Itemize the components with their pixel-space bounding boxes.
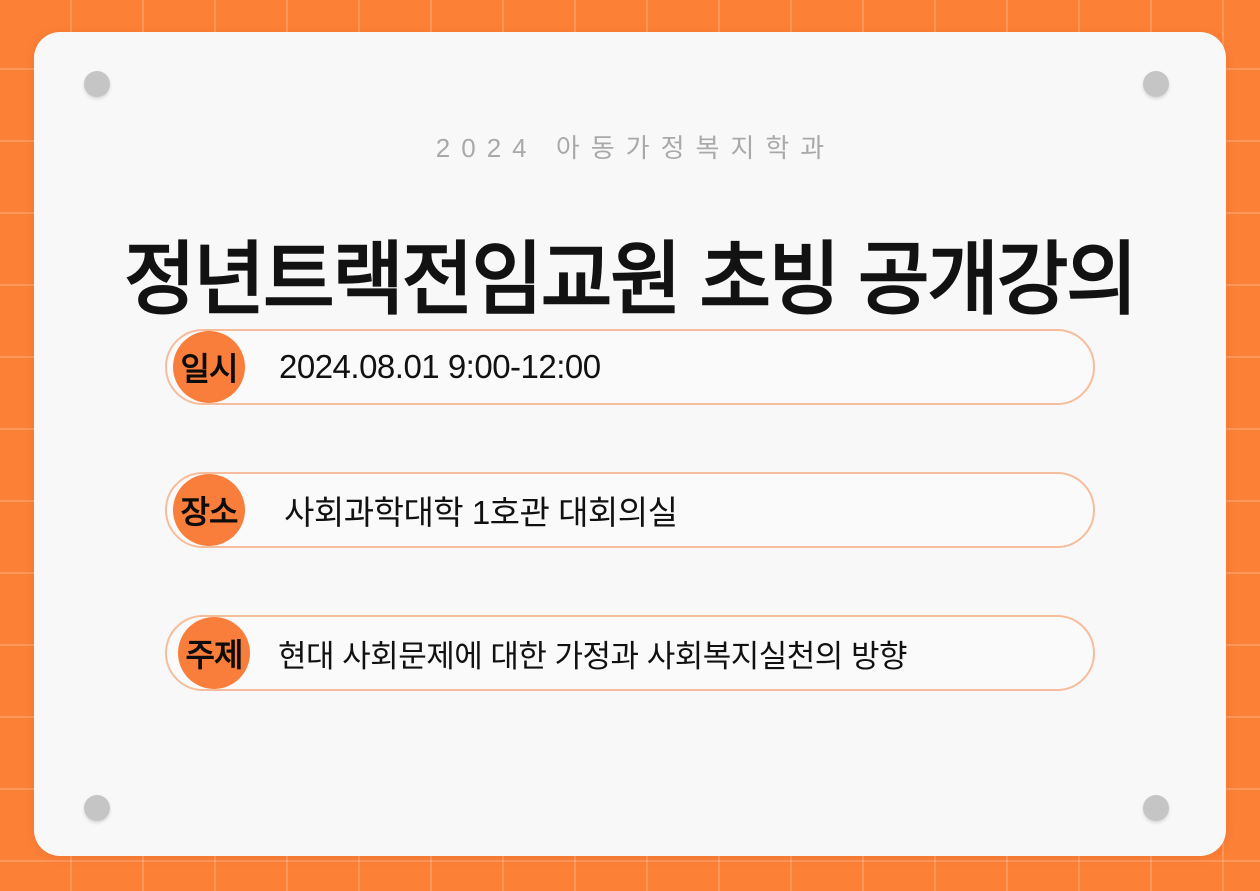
poster-canvas: 2024 아동가정복지학과 정년트랙전임교원 초빙 공개강의 일시 2024.0… — [0, 0, 1260, 891]
info-row-label-badge: 장소 — [173, 474, 245, 546]
poster-subtitle: 2024 아동가정복지학과 — [34, 128, 1226, 165]
info-row-value: 사회과학대학 1호관 대회의실 — [284, 472, 678, 548]
info-row-value: 현대 사회문제에 대한 가정과 사회복지실천의 방향 — [278, 615, 907, 691]
info-row-location: 장소 사회과학대학 1호관 대회의실 — [34, 472, 1226, 548]
poster-card: 2024 아동가정복지학과 정년트랙전임교원 초빙 공개강의 일시 2024.0… — [34, 32, 1226, 856]
poster-title: 정년트랙전임교원 초빙 공개강의 — [52, 232, 1208, 328]
info-row-label-badge: 일시 — [173, 331, 245, 403]
info-row-list: 일시 2024.08.01 9:00-12:00 장소 사회과학대학 1호관 대… — [34, 329, 1226, 691]
pin-bottom-right-icon — [1143, 795, 1169, 821]
pin-top-left-icon — [84, 71, 110, 97]
info-row-value: 2024.08.01 9:00-12:00 — [279, 329, 601, 405]
info-row-date: 일시 2024.08.01 9:00-12:00 — [34, 329, 1226, 405]
info-row-label-badge: 주제 — [178, 617, 250, 689]
pin-bottom-left-icon — [84, 795, 110, 821]
info-row-topic: 주제 현대 사회문제에 대한 가정과 사회복지실천의 방향 — [34, 615, 1226, 691]
pin-top-right-icon — [1143, 71, 1169, 97]
